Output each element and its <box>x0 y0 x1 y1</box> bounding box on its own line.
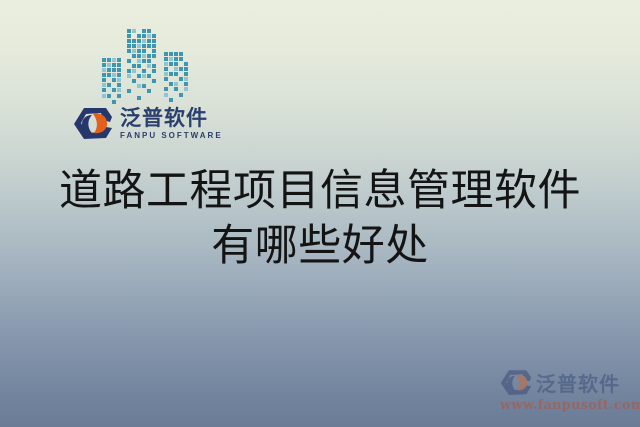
logo-name-en: FANPU SOFTWARE <box>120 132 223 140</box>
logo-text: 泛普软件 FANPU SOFTWARE <box>120 108 223 140</box>
watermark: 泛普软件 www.fanpusoft.com <box>500 368 640 418</box>
fanpu-logo-mark <box>73 108 113 140</box>
watermark-url: www.fanpusoft.com <box>500 398 640 413</box>
page-title: 道路工程项目信息管理软件 有哪些好处 <box>0 166 640 271</box>
fanpu-logo-mark <box>500 370 532 396</box>
logo-name-cn: 泛普软件 <box>120 108 223 129</box>
page-title-line-1: 道路工程项目信息管理软件 <box>0 166 640 217</box>
page-title-line-2: 有哪些好处 <box>0 221 640 272</box>
watermark-logo: 泛普软件 <box>500 368 640 397</box>
watermark-name-cn: 泛普软件 <box>536 368 620 397</box>
promo-banner: 泛普软件 FANPU SOFTWARE 道路工程项目信息管理软件 有哪些好处 泛… <box>0 0 640 427</box>
fanpu-logo: 泛普软件 FANPU SOFTWARE <box>73 108 223 140</box>
pixel-buildings-icon <box>96 24 196 110</box>
